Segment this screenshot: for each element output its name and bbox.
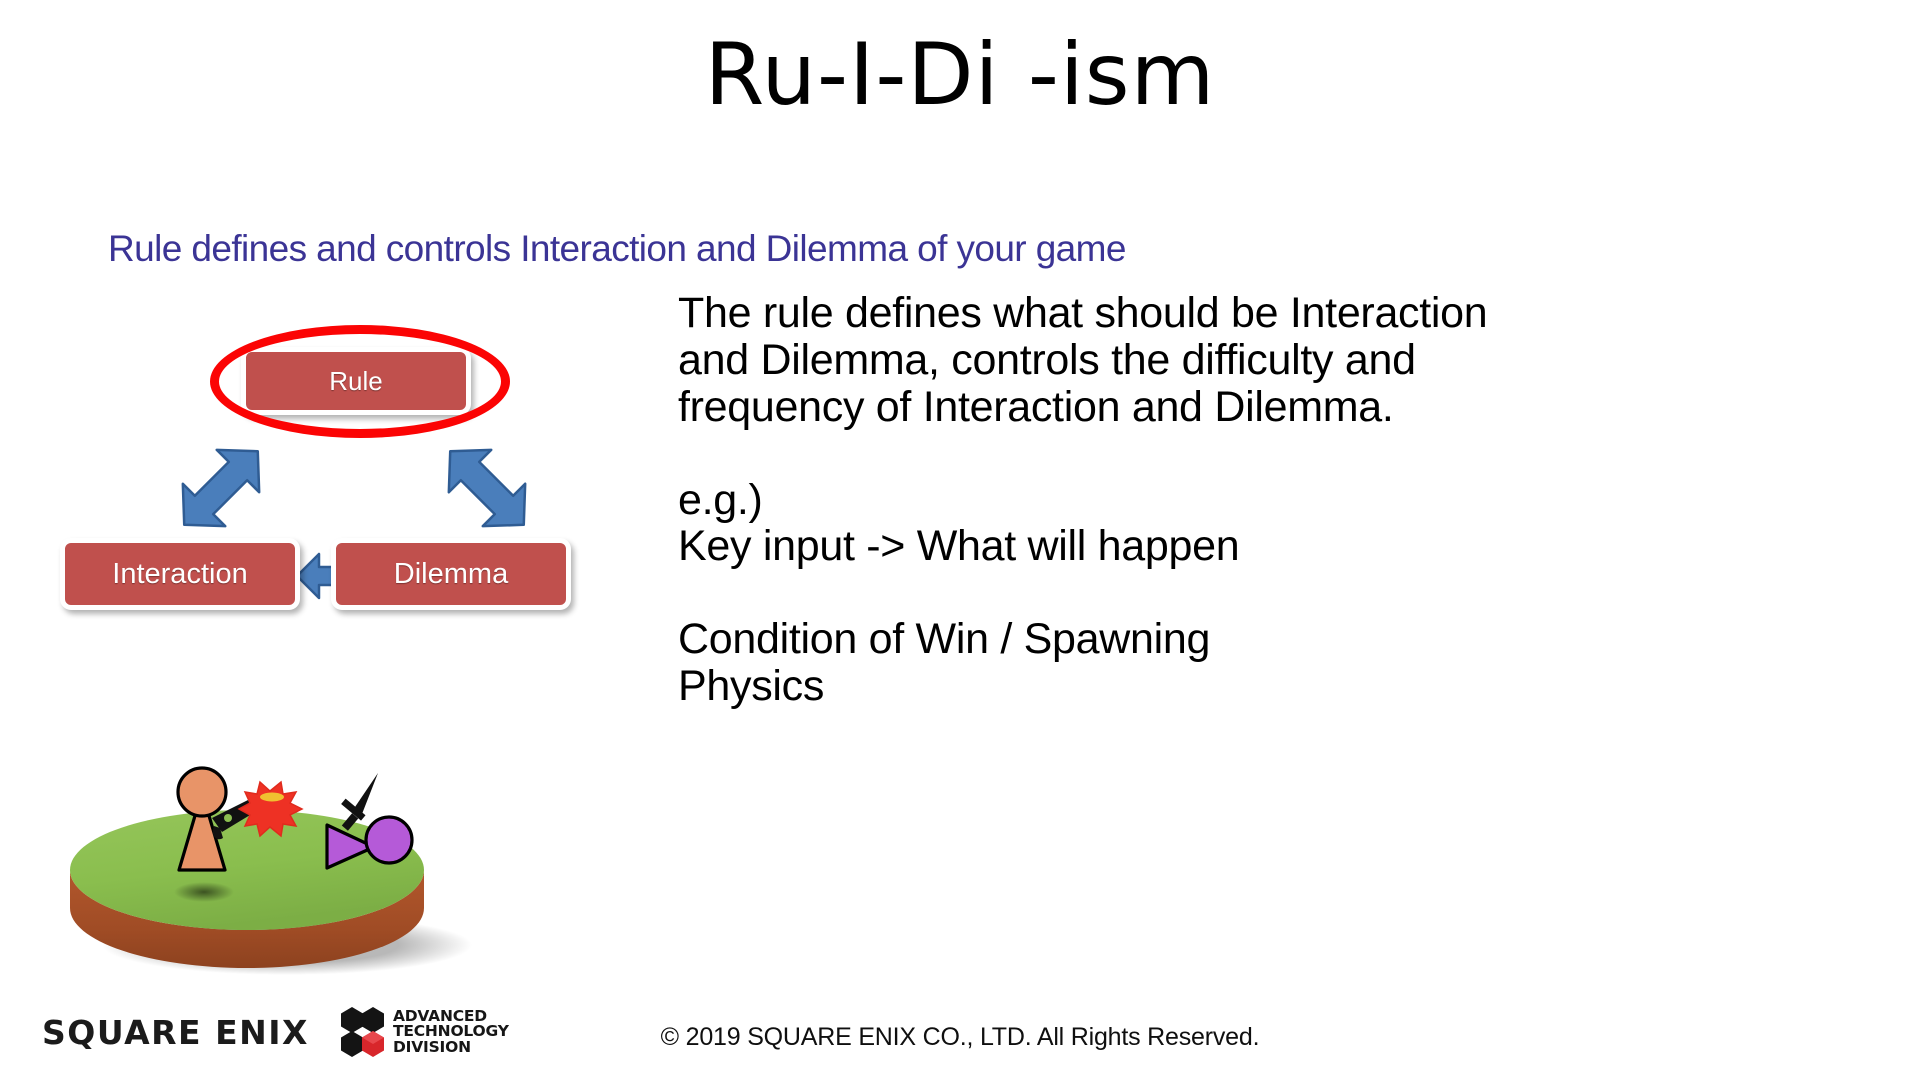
page-title: Ru-I-Di -ism <box>0 28 1920 123</box>
diagram-node-dilemma-label: Dilemma <box>394 558 508 591</box>
body-paragraph-1: The rule defines what should be Interact… <box>678 290 1538 431</box>
diagram-node-dilemma[interactable]: Dilemma <box>331 538 571 610</box>
slide-canvas: Ru-I-Di -ism Rule defines and controls I… <box>0 0 1920 1080</box>
copyright-notice: © 2019 SQUARE ENIX CO., LTD. All Rights … <box>0 1023 1920 1052</box>
diagram-node-interaction-label: Interaction <box>112 558 247 591</box>
red-ellipse-highlight <box>210 325 510 438</box>
rudiism-diagram: Rule Interaction Dilemma <box>55 300 675 630</box>
body-example-label: e.g.) <box>678 477 1538 524</box>
diagram-node-interaction[interactable]: Interaction <box>60 538 300 610</box>
character-shadow <box>174 882 234 902</box>
game-field-illustration <box>62 740 492 975</box>
arrow-rule-dilemma-icon <box>417 428 557 548</box>
body-example-line: Key input -> What will happen <box>678 523 1538 570</box>
paragraph-spacer <box>678 431 1538 477</box>
body-text-block: The rule defines what should be Interact… <box>678 290 1538 710</box>
slide-subtitle: Rule defines and controls Interaction an… <box>108 228 1126 270</box>
arrow-rule-interaction-icon <box>151 428 291 548</box>
body-paragraph-3-line-2: Physics <box>678 663 1538 710</box>
paragraph-spacer-2 <box>678 570 1538 616</box>
body-paragraph-3-line-1: Condition of Win / Spawning <box>678 616 1538 663</box>
